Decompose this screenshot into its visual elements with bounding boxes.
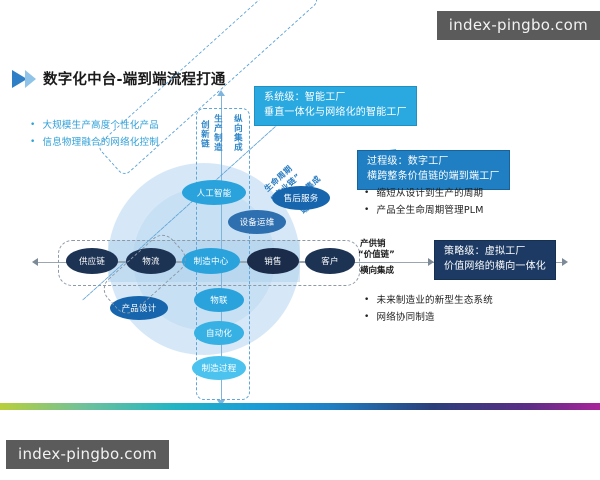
callout-system-line1: 系统级：智能工厂 [264, 91, 407, 106]
callout-strategy-level[interactable]: 策略级：虚拟工厂 价值网络的横向一体化 [434, 240, 556, 280]
chain-connector [118, 261, 126, 262]
list-item: • 缩短从设计到生产的周期 [364, 186, 484, 203]
bullet-dot-icon: • [30, 118, 36, 134]
chain-connector [299, 261, 305, 262]
process-bullet-1: 产品全生命周期管理PLM [377, 203, 484, 220]
node-equipment-om[interactable]: 设备运维 [228, 210, 286, 234]
list-item: • 未来制造业的新型生态系统 [364, 293, 493, 310]
bullet-dot-icon: • [364, 310, 370, 326]
left-bullet-1: 信息物理融合的网络化控制 [43, 135, 159, 152]
callout-system-line2: 垂直一体化与网络化的智能工厂 [264, 106, 407, 121]
process-bullet-0: 缩短从设计到生产的周期 [377, 186, 484, 203]
list-item: • 产品全生命周期管理PLM [364, 203, 484, 220]
node-manufacturing-center[interactable]: 制造中心 [182, 248, 240, 274]
process-bullet-list: • 缩短从设计到生产的周期 • 产品全生命周期管理PLM [364, 186, 484, 219]
chain-connector [240, 261, 247, 262]
list-item: • 信息物理融合的网络化控制 [30, 135, 159, 152]
horizontal-label-arrow [428, 258, 434, 266]
callout-strategy-line2: 价值网络的横向一体化 [444, 260, 546, 275]
strategy-bullet-1: 网络协同制造 [377, 310, 435, 327]
callout-strategy-line1: 策略级：虚拟工厂 [444, 245, 546, 260]
left-bullet-0: 大规模生产高度个性化产品 [43, 118, 159, 135]
callout-process-level[interactable]: 过程级：数字工厂 横跨整条价值链的端到端工厂 [357, 150, 510, 190]
horizontal-label-line3: 横向集成 [360, 266, 394, 277]
vertical-label-vertical-integration: 纵向集成 [232, 114, 241, 152]
bullet-dot-icon: • [364, 186, 370, 202]
watermark-top: index-pingbo.com [437, 11, 600, 40]
node-automation[interactable]: 自动化 [194, 321, 244, 345]
node-sales[interactable]: 销售 [247, 248, 299, 274]
play-triangle-icon-secondary [25, 70, 36, 88]
node-iot[interactable]: 物联 [194, 288, 244, 312]
node-supply-chain[interactable]: 供应链 [66, 248, 118, 274]
horizontal-axis-arrow-left [32, 258, 38, 266]
callout-system-level[interactable]: 系统级：智能工厂 垂直一体化与网络化的智能工厂 [254, 86, 417, 126]
watermark-bottom: index-pingbo.com [6, 440, 169, 469]
vertical-label-innovation-chain: 创新链 [199, 120, 208, 149]
vertical-label-production: 生产制造 [212, 114, 221, 152]
callout-process-line1: 过程级：数字工厂 [367, 155, 500, 170]
list-item: • 大规模生产高度个性化产品 [30, 118, 159, 135]
node-manufacturing-process[interactable]: 制造过程 [192, 356, 246, 380]
bullet-dot-icon: • [30, 135, 36, 151]
bullet-dot-icon: • [364, 203, 370, 219]
node-ai[interactable]: 人工智能 [182, 180, 246, 205]
strategy-bullet-0: 未来制造业的新型生态系统 [377, 293, 493, 310]
left-bullet-list: • 大规模生产高度个性化产品 • 信息物理融合的网络化控制 [30, 118, 159, 151]
bottom-gradient-bar [0, 403, 600, 410]
node-aftersales[interactable]: 售后服务 [272, 186, 330, 210]
bullet-dot-icon: • [364, 293, 370, 309]
strategy-bullet-list: • 未来制造业的新型生态系统 • 网络协同制造 [364, 293, 493, 326]
horizontal-axis-arrow-right [562, 258, 568, 266]
horizontal-label-line1: 产供销 [360, 239, 386, 250]
slide-canvas: index-pingbo.com index-pingbo.com 数字化中台-… [0, 0, 600, 480]
node-customer[interactable]: 客户 [305, 248, 355, 274]
horizontal-label-line2: “价值链” [358, 250, 395, 261]
callout-process-line2: 横跨整条价值链的端到端工厂 [367, 170, 500, 185]
list-item: • 网络协同制造 [364, 310, 493, 327]
